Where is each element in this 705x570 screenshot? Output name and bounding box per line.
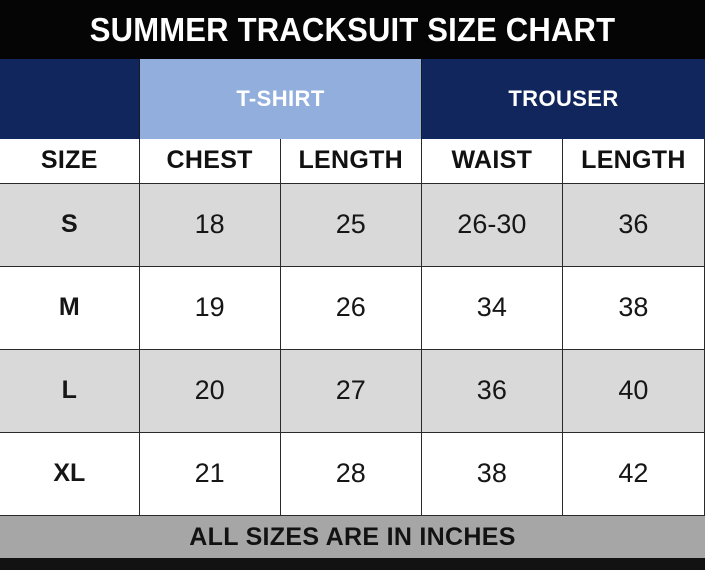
cell-tshirt-length: 26 [280,266,421,349]
column-header-size: SIZE [0,139,139,183]
table-row: M 19 26 34 38 [0,266,705,349]
cell-waist: 26-30 [421,183,562,266]
footer-note: ALL SIZES ARE IN INCHES [189,523,515,552]
table-row: S 18 25 26-30 36 [0,183,705,266]
cell-tshirt-length: 27 [280,349,421,432]
footer-note-band: ALL SIZES ARE IN INCHES [0,515,705,558]
cell-size: S [0,183,139,266]
column-header-trouser-length: LENGTH [562,139,704,183]
category-group-band: T-SHIRT TROUSER [0,59,705,139]
size-table: SIZE CHEST LENGTH WAIST LENGTH S 18 25 2… [0,139,705,516]
cell-trouser-length: 36 [562,183,704,266]
table-header-row: SIZE CHEST LENGTH WAIST LENGTH [0,139,705,183]
cell-size: XL [0,432,139,515]
cell-tshirt-length: 25 [280,183,421,266]
page-title: SUMMER TRACKSUIT SIZE CHART [90,11,616,49]
column-header-tshirt-length: LENGTH [280,139,421,183]
group-header-trouser: TROUSER [422,59,705,139]
cell-trouser-length: 38 [562,266,704,349]
group-label-trouser: TROUSER [508,86,618,112]
cell-trouser-length: 42 [562,432,704,515]
cell-chest: 18 [139,183,280,266]
cell-chest: 21 [139,432,280,515]
cell-waist: 36 [421,349,562,432]
cell-size: M [0,266,139,349]
cell-chest: 20 [139,349,280,432]
column-header-waist: WAIST [421,139,562,183]
cell-tshirt-length: 28 [280,432,421,515]
cell-waist: 38 [421,432,562,515]
bottom-black-strip [0,558,705,570]
cell-chest: 19 [139,266,280,349]
cell-waist: 34 [421,266,562,349]
table-row: XL 21 28 38 42 [0,432,705,515]
size-chart-image: SUMMER TRACKSUIT SIZE CHART T-SHIRT TROU… [0,0,705,570]
table-row: L 20 27 36 40 [0,349,705,432]
chart-title-band: SUMMER TRACKSUIT SIZE CHART [0,0,705,59]
cell-trouser-length: 40 [562,349,704,432]
group-header-blank [0,59,139,139]
group-header-tshirt: T-SHIRT [139,59,422,139]
column-header-chest: CHEST [139,139,280,183]
group-label-tshirt: T-SHIRT [236,86,324,112]
cell-size: L [0,349,139,432]
